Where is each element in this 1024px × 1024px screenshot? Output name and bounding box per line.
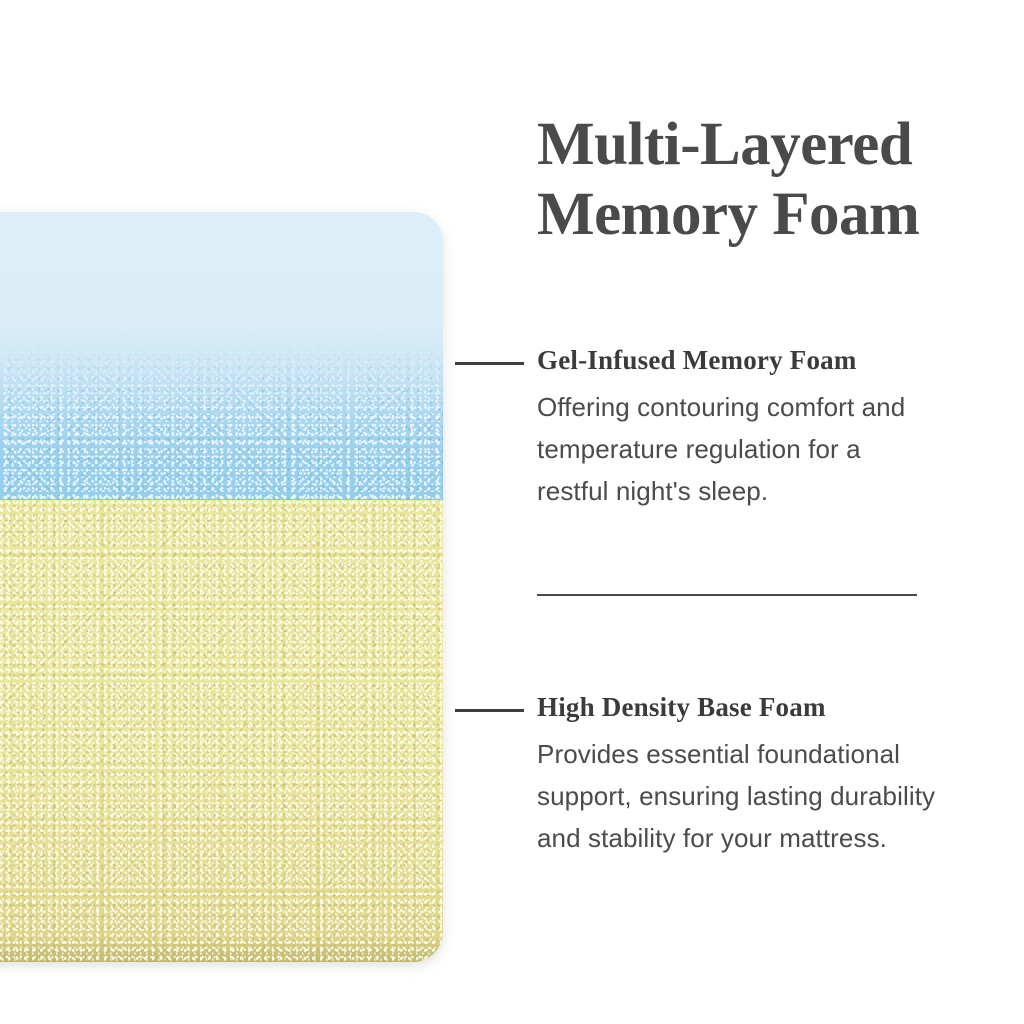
feature-description: Provides essential foundational support,… — [537, 733, 1007, 859]
leader-line-icon — [455, 362, 524, 365]
foam-block-illustration — [0, 212, 443, 962]
feature-heading: High Density Base Foam — [537, 691, 1007, 723]
product-infographic: Multi-Layered Memory Foam Gel-Infused Me… — [0, 0, 1024, 1024]
content-column: Multi-Layered Memory Foam Gel-Infused Me… — [537, 0, 1007, 1024]
gel-foam-layer — [0, 212, 443, 502]
page-title: Multi-Layered Memory Foam — [537, 110, 1007, 250]
base-foam-layer — [0, 500, 443, 962]
feature-heading: Gel-Infused Memory Foam — [537, 344, 1007, 376]
leader-line-icon — [455, 709, 524, 712]
base-foam-bottom-shading — [0, 936, 443, 962]
feature-description: Offering contouring comfort and temperat… — [537, 386, 1007, 512]
feature-high-density-base-foam: High Density Base Foam Provides essentia… — [537, 691, 1007, 859]
section-divider — [537, 594, 917, 596]
feature-gel-infused-memory-foam: Gel-Infused Memory Foam Offering contour… — [537, 344, 1007, 512]
